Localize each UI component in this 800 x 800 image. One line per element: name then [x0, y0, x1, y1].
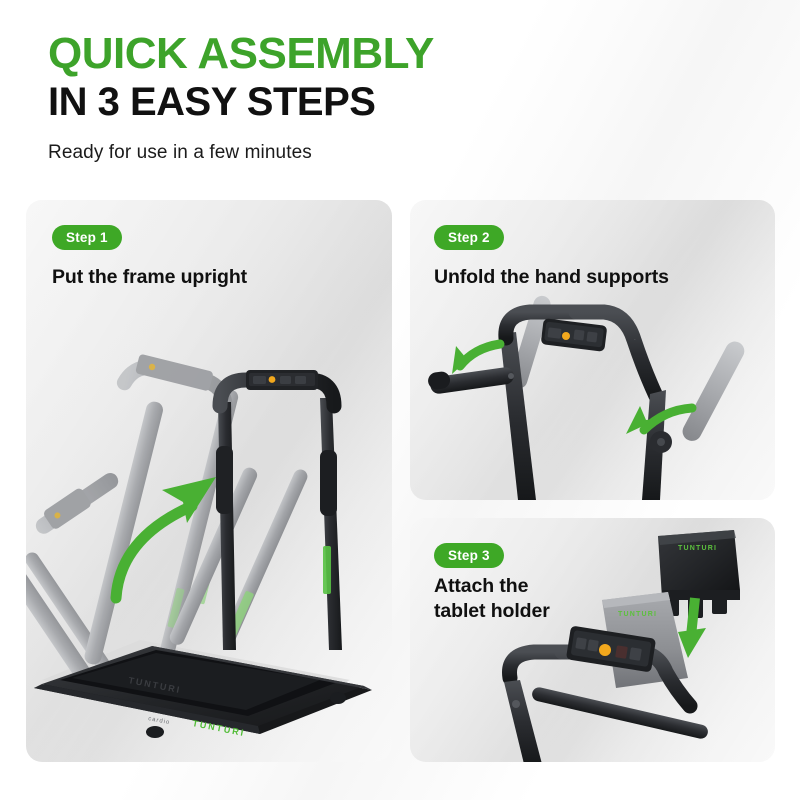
- step-badge-2: Step 2: [434, 225, 504, 250]
- step-badge-3: Step 3: [434, 543, 504, 568]
- page-title-line-1: QUICK ASSEMBLY: [48, 32, 648, 76]
- console-unit-panel1: [246, 370, 318, 390]
- treadmill-illustration: TUNTURI TUNTURI cardio: [26, 350, 392, 762]
- svg-text:cardio: cardio: [148, 716, 171, 726]
- header: QUICK ASSEMBLY IN 3 EASY STEPS Ready for…: [48, 32, 648, 164]
- step-card-2: Step 2 Unfold the hand supports: [410, 200, 775, 500]
- treadmill-deck: TUNTURI TUNTURI cardio: [34, 646, 372, 738]
- step-title-3: Attach the tablet holder: [434, 574, 634, 624]
- console-unit-panel2: [541, 318, 608, 352]
- solid-upright-frame: TUNTURI TUNTURI cardio: [34, 370, 372, 738]
- svg-text:TUNTURI: TUNTURI: [678, 545, 717, 552]
- page-title-line-2: IN 3 EASY STEPS: [48, 81, 648, 123]
- page-subtitle: Ready for use in a few minutes: [48, 142, 648, 164]
- step-card-3: TUNTURI TUNTURI: [410, 518, 775, 762]
- step-title-1: Put the frame upright: [52, 265, 372, 290]
- handlebar-unfold-illustration: [414, 288, 775, 500]
- step-card-1: TUNTURI TUNTURI cardio Step 1 Put the fr…: [26, 200, 392, 762]
- step-badge-1: Step 1: [52, 225, 122, 250]
- step-title-2: Unfold the hand supports: [434, 265, 764, 290]
- poster-root: QUICK ASSEMBLY IN 3 EASY STEPS Ready for…: [0, 0, 800, 800]
